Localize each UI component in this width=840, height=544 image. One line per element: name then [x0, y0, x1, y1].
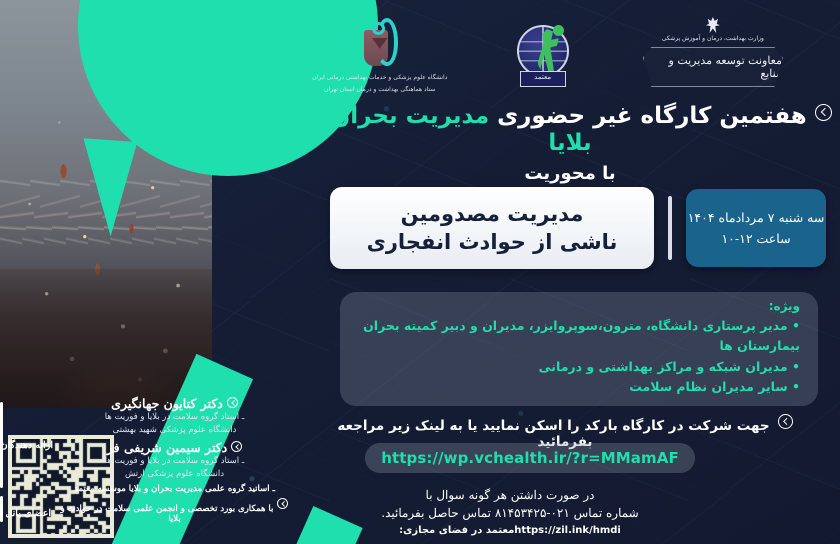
speaker-entry: دکتر کتایون جهانگیری ـ استاد گروه سلامت …: [55, 396, 294, 436]
panel-members-label: اعضای پانل: [5, 508, 51, 519]
audience-item: مدیران شبکه و مراکز بهداشتی و درمانی: [354, 357, 800, 377]
chevron-left-icon: [778, 414, 793, 429]
presenters-label: ارائه دهندگان: [1, 440, 53, 451]
speakers-panel: ارائه دهندگان اعضای پانل دکتر کتایون جها…: [0, 396, 300, 544]
audience-item: مدیر پرستاری دانشگاه، مترون،سوپروایزر، م…: [354, 316, 800, 357]
speaker-affiliation-line-2: دانشگاه علوم پزشکی شهید بهشتی: [55, 424, 294, 437]
logo-iran-university-medical-sciences: دانشگاه علوم پزشکی و خدمات بهداشتی درمان…: [312, 14, 447, 95]
audience-title: ویژه:: [354, 299, 800, 313]
ministry-frame: معاونت توسعه مدیریت و منابع: [643, 47, 783, 87]
contact-line-2: شماره تماس ۰۲۱-۸۱۴۵۳۴۲۵ تماس حاصل بفرمائ…: [330, 504, 690, 523]
ministry-frame-text: معاونت توسعه مدیریت و منابع: [644, 54, 782, 80]
headline-line-1: هفتمین کارگاه غیر حضوری مدیریت بحران و ب…: [300, 103, 840, 157]
chevron-left-icon: [227, 397, 238, 408]
iums-icon: [352, 14, 408, 70]
event-date: سه شنبه ۷ مردادماه ۱۴۰۴: [688, 210, 825, 225]
logo-nameplate: معتمد: [520, 71, 566, 87]
cooperation-text: با همکاری بورد تخصصی و انجمن علمی سلامت …: [61, 504, 274, 524]
logo-nameplate-text: معتمد: [521, 73, 565, 81]
speaker-name-text: دکتر کتایون جهانگیری: [111, 396, 223, 411]
date-time-chip: سه شنبه ۷ مردادماه ۱۴۰۴ ساعت ۱۲-۱۰: [686, 189, 826, 267]
topic-row: سه شنبه ۷ مردادماه ۱۴۰۴ ساعت ۱۲-۱۰ مدیری…: [300, 186, 840, 270]
event-time: ساعت ۱۲-۱۰: [721, 231, 790, 246]
speaker-affiliation-line-1: ـ استاد گروه سلامت در بلایا و فوریت ها: [55, 411, 294, 424]
workshop-poster: وزارت بهداشت، درمان و آموزش پزشکی معاونت…: [0, 0, 840, 544]
topic-line-1: مدیریت مصدومین: [401, 200, 584, 228]
globe-figure-icon: معتمد: [512, 23, 574, 85]
topic-divider: [668, 196, 672, 260]
chevron-left-icon: [231, 441, 242, 452]
audience-box: ویژه: مدیر پرستاری دانشگاه، مترون،سوپروا…: [340, 292, 818, 406]
topic-line-2: ناشی از حوادث انفجاری: [367, 228, 618, 256]
cooperation-line: با همکاری بورد تخصصی و انجمن علمی سلامت …: [55, 498, 294, 524]
logo-motamed-institute: معتمد: [512, 23, 574, 85]
chevron-left-icon: [277, 498, 288, 509]
iums-circle-shape: [372, 22, 385, 35]
header-logos: وزارت بهداشت، درمان و آموزش پزشکی معاونت…: [280, 0, 840, 104]
iums-caption-line2: ستاد هماهنگی بهداشت و درمان استان تهران: [324, 85, 435, 94]
contact-block: در صورت داشتن هر گونه سوال با شماره تماس…: [330, 486, 690, 536]
iran-emblem-icon: [705, 17, 720, 33]
registration-url[interactable]: https://wp.vchealth.ir/?r=MMamAF: [381, 449, 679, 467]
logo-ministry-of-health: وزارت بهداشت، درمان و آموزش پزشکی معاونت…: [638, 17, 788, 91]
speaker-name-text: دکتر سیمین شریفی فر: [107, 440, 227, 455]
speakers-body: دکتر کتایون جهانگیری ـ استاد گروه سلامت …: [55, 396, 300, 544]
registration-url-pill[interactable]: https://wp.vchealth.ir/?r=MMamAF: [365, 443, 695, 473]
teal-wedge-decoration: [77, 138, 138, 238]
speakers-side-labels: ارائه دهندگان اعضای پانل: [0, 396, 55, 544]
speaker-affiliation-line-1: ـ استاد گروه سلامت در بلایا و فوریت ها: [55, 455, 294, 468]
headline-prefix: هفتمین کارگاه غیر حضوری: [489, 103, 807, 129]
panel-members-text: ـ اساتید گروه علمی مدیریت بحران و بلایا …: [55, 484, 294, 494]
chevron-left-icon: [815, 104, 832, 121]
speaker-entry: دکتر سیمین شریفی فر ـ استاد گروه سلامت د…: [55, 440, 294, 480]
ministry-caption: وزارت بهداشت، درمان و آموزش پزشکی: [662, 35, 764, 42]
audience-item: سایر مدیران نظام سلامت: [354, 377, 800, 397]
speaker-name: دکتر سیمین شریفی فر: [55, 440, 294, 455]
iums-caption-line1: دانشگاه علوم پزشکی و خدمات بهداشتی درمان…: [312, 73, 447, 82]
contact-social-url[interactable]: https://zil.ink/hmdi: [514, 525, 621, 536]
speaker-name: دکتر کتایون جهانگیری: [55, 396, 294, 411]
contact-social-label: معتمد در فضای مجازی:: [399, 525, 514, 536]
contact-line-1: در صورت داشتن هر گونه سوال با: [330, 486, 690, 505]
speaker-affiliation-line-2: دانشگاه علوم پزشکی ارتش: [55, 468, 294, 481]
figure-head-icon: [553, 25, 564, 36]
topic-title-box: مدیریت مصدومین ناشی از حوادث انفجاری: [330, 187, 654, 269]
poster-headline: هفتمین کارگاه غیر حضوری مدیریت بحران و ب…: [300, 103, 840, 184]
panel-divider-bar: [0, 496, 3, 522]
contact-social[interactable]: https://zil.ink/hmdiمعتمد در فضای مجازی:: [330, 525, 690, 536]
headline-line-2: با محوریت: [300, 163, 840, 184]
